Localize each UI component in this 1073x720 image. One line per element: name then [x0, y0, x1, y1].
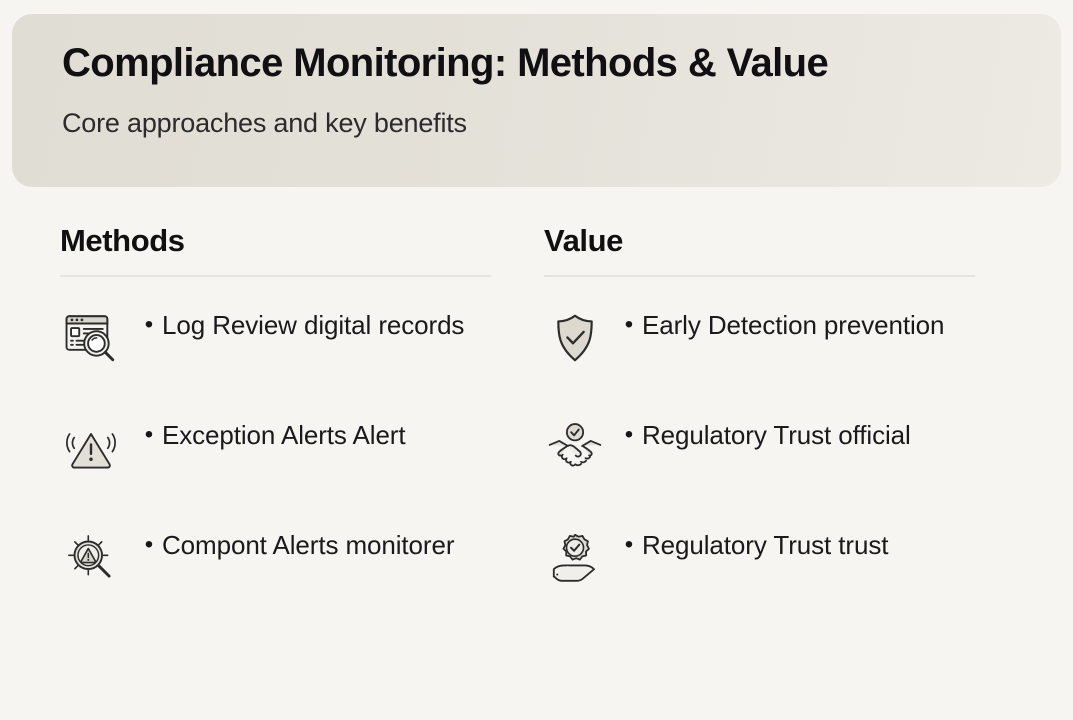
value-list: • Early Detection prevention — [544, 299, 1073, 629]
list-item-label: Log Review digital records — [162, 299, 464, 346]
column-title-methods: Methods — [60, 222, 527, 261]
column-divider — [544, 275, 975, 277]
list-item-label: Regulatory Trust official — [642, 409, 911, 456]
list-item: • Early Detection prevention — [544, 299, 1073, 409]
bullet: • — [136, 415, 162, 455]
list-item-label: Compont Alerts monitorer — [162, 519, 454, 566]
list-item: • Log Review digital records — [60, 299, 527, 409]
column-value: Value • Early Detection prevention — [527, 222, 1073, 629]
list-item-label: Exception Alerts Alert — [162, 409, 405, 456]
document-search-icon — [60, 307, 122, 369]
content-columns: Methods — [0, 222, 1073, 629]
bullet: • — [616, 305, 642, 345]
list-item: • Regulatory Trust official — [544, 409, 1073, 519]
page-subtitle: Core approaches and key benefits — [62, 107, 1017, 139]
list-item: • Compont Alerts monitorer — [60, 519, 527, 629]
list-item-label: Regulatory Trust trust — [642, 519, 888, 566]
list-item-label: Early Detection prevention — [642, 299, 944, 346]
handshake-check-icon — [544, 417, 606, 479]
column-divider — [60, 275, 491, 277]
bullet: • — [616, 525, 642, 565]
list-item: • Regulatory Trust trust — [544, 519, 1073, 629]
methods-list: • Log Review digital records • — [60, 299, 527, 629]
warning-magnifier-icon — [60, 527, 122, 589]
header-card: Compliance Monitoring: Methods & Value C… — [12, 14, 1061, 187]
column-methods: Methods — [0, 222, 527, 629]
list-item: • Exception Alerts Alert — [60, 409, 527, 519]
hand-badge-check-icon — [544, 527, 606, 589]
bullet: • — [136, 525, 162, 565]
shield-check-icon — [544, 307, 606, 369]
bullet: • — [136, 305, 162, 345]
page-title: Compliance Monitoring: Methods & Value — [62, 40, 1017, 87]
warning-alert-icon — [60, 417, 122, 479]
bullet: • — [616, 415, 642, 455]
column-title-value: Value — [544, 222, 1073, 261]
